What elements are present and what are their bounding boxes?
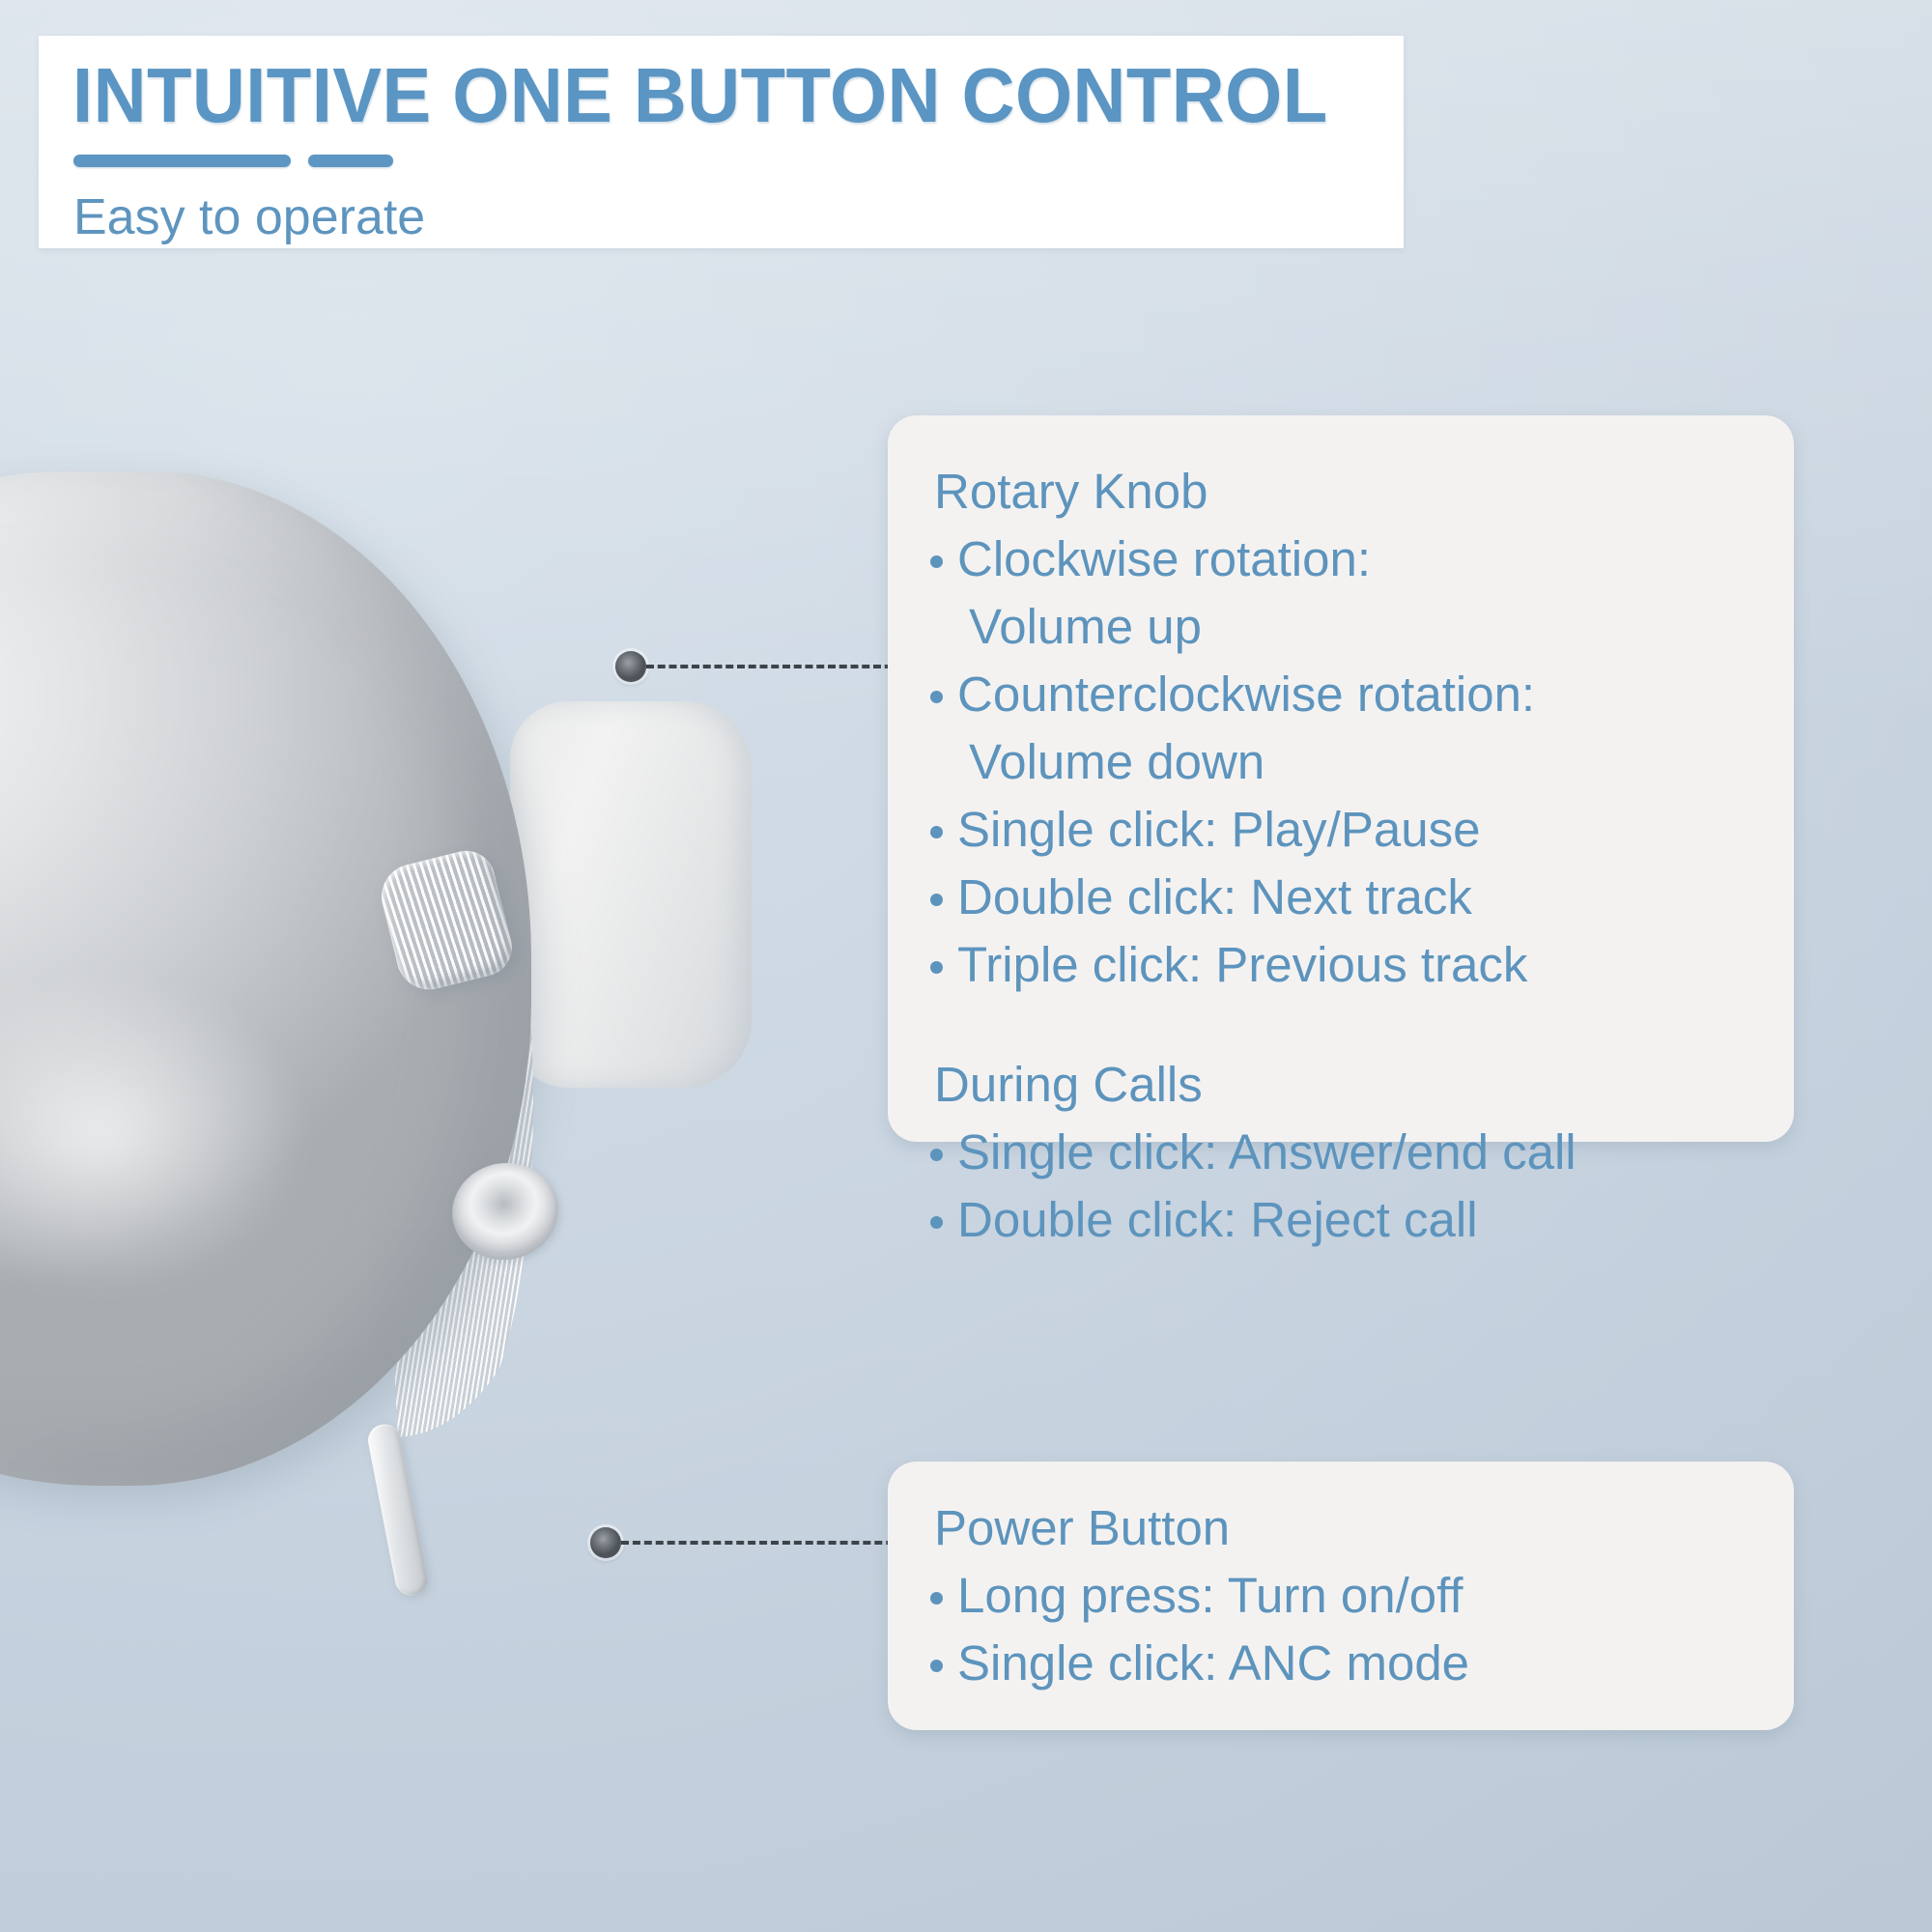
callout-bullet-list: Clockwise rotation:Volume up Countercloc… — [913, 526, 1755, 999]
callout-title: Rotary Knob — [913, 458, 1755, 526]
bullet-text-continued: Volume down — [957, 728, 1755, 796]
bullet-text-continued: Volume up — [957, 593, 1755, 661]
bullet-text: Clockwise rotation: — [957, 531, 1371, 586]
connector-dashed-line — [646, 665, 926, 668]
list-item: Single click: ANC mode — [913, 1630, 1755, 1697]
bullet-text: Triple click: Previous track — [957, 937, 1527, 992]
bullet-text: Double click: Reject call — [957, 1192, 1478, 1247]
list-item: Double click: Reject call — [913, 1186, 1755, 1254]
bullet-text: Double click: Next track — [957, 869, 1472, 924]
power-button — [365, 1421, 431, 1598]
list-item: Single click: Play/Pause — [913, 796, 1755, 864]
callout-subsection-title: During Calls — [913, 1051, 1755, 1119]
page-subtitle: Easy to operate — [73, 187, 425, 247]
bullet-text: Single click: Play/Pause — [957, 802, 1480, 857]
divider-bar-short — [308, 155, 393, 167]
connector-dot-icon — [615, 651, 646, 682]
page-title: INTUITIVE ONE BUTTON CONTROL — [72, 49, 1328, 142]
callout-bullet-list: Long press: Turn on/off Single click: AN… — [913, 1562, 1755, 1697]
header-banner: INTUITIVE ONE BUTTON CONTROL Easy to ope… — [39, 36, 1404, 248]
divider-bar-long — [73, 155, 291, 167]
list-item: Triple click: Previous track — [913, 931, 1755, 999]
infographic-canvas: INTUITIVE ONE BUTTON CONTROL Easy to ope… — [0, 0, 1932, 1932]
callout-title: Power Button — [913, 1494, 1755, 1562]
connector-dot-icon — [590, 1527, 621, 1558]
bullet-text: Long press: Turn on/off — [957, 1568, 1463, 1623]
list-item: Clockwise rotation:Volume up — [913, 526, 1755, 661]
callout-card-power-button: Power Button Long press: Turn on/off Sin… — [888, 1462, 1794, 1730]
title-divider — [73, 155, 393, 167]
ear-cushion — [510, 701, 752, 1088]
list-item: Double click: Next track — [913, 864, 1755, 931]
bullet-text: Counterclockwise rotation: — [957, 667, 1535, 722]
connector-dashed-line — [621, 1541, 928, 1545]
callout-card-rotary-knob: Rotary Knob Clockwise rotation:Volume up… — [888, 415, 1794, 1142]
list-item: Counterclockwise rotation:Volume down — [913, 661, 1755, 796]
callout-subsection-bullet-list: Single click: Answer/end call Double cli… — [913, 1119, 1755, 1254]
bullet-text: Single click: Answer/end call — [957, 1124, 1577, 1179]
bullet-text: Single click: ANC mode — [957, 1635, 1469, 1690]
list-item: Long press: Turn on/off — [913, 1562, 1755, 1630]
list-item: Single click: Answer/end call — [913, 1119, 1755, 1186]
product-image — [0, 355, 686, 1544]
